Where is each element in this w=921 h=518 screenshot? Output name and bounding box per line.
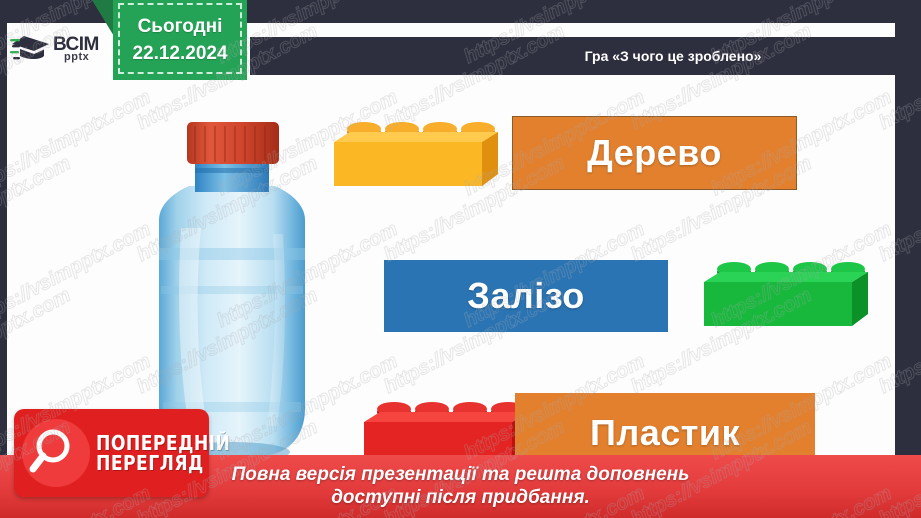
preview-badge[interactable]: ПОПЕРЕДНІЙ ПЕРЕГЛЯД: [14, 409, 209, 497]
page-title: Гра «З чого це зроблено»: [385, 48, 762, 64]
brand-logo[interactable]: ВСІМ pptx: [10, 26, 106, 72]
answer-label-plastyk: Пластик: [590, 412, 740, 454]
preview-badge-text: ПОПЕРЕДНІЙ ПЕРЕГЛЯД: [96, 433, 252, 474]
plastic-water-bottle-image: [137, 108, 327, 460]
lego-brick-green: [700, 258, 872, 339]
answer-label-zalizo: Залізо: [467, 275, 584, 317]
slide-header-bar: Гра «З чого це зроблено»: [250, 37, 896, 75]
purchase-notice-line1: Повна версія презентації та решта доповн…: [232, 464, 690, 486]
preview-badge-line2: ПЕРЕГЛЯД: [96, 453, 230, 473]
presentation-slide: Дерево Залізо Пластик Гра «З чого це зро…: [0, 0, 921, 518]
left-frame-band: [0, 0, 7, 518]
answer-box-zalizo[interactable]: Залізо: [384, 260, 668, 332]
date-badge-label: Сьогодні: [138, 16, 223, 38]
date-badge: Сьогодні 22.12.2024: [113, 0, 247, 80]
lego-brick-yellow: [330, 118, 502, 199]
magnifier-icon: [22, 419, 90, 487]
purchase-notice-line2: доступні після придбання.: [331, 487, 590, 509]
brand-logo-text: ВСІМ pptx: [53, 35, 99, 63]
answer-label-derevo: Дерево: [587, 132, 722, 174]
date-badge-date: 22.12.2024: [132, 43, 227, 65]
preview-badge-line1: ПОПЕРЕДНІЙ: [96, 433, 230, 453]
right-frame-band: [895, 0, 921, 518]
answer-box-derevo[interactable]: Дерево: [512, 116, 797, 190]
graduation-cap-icon: [10, 32, 50, 66]
